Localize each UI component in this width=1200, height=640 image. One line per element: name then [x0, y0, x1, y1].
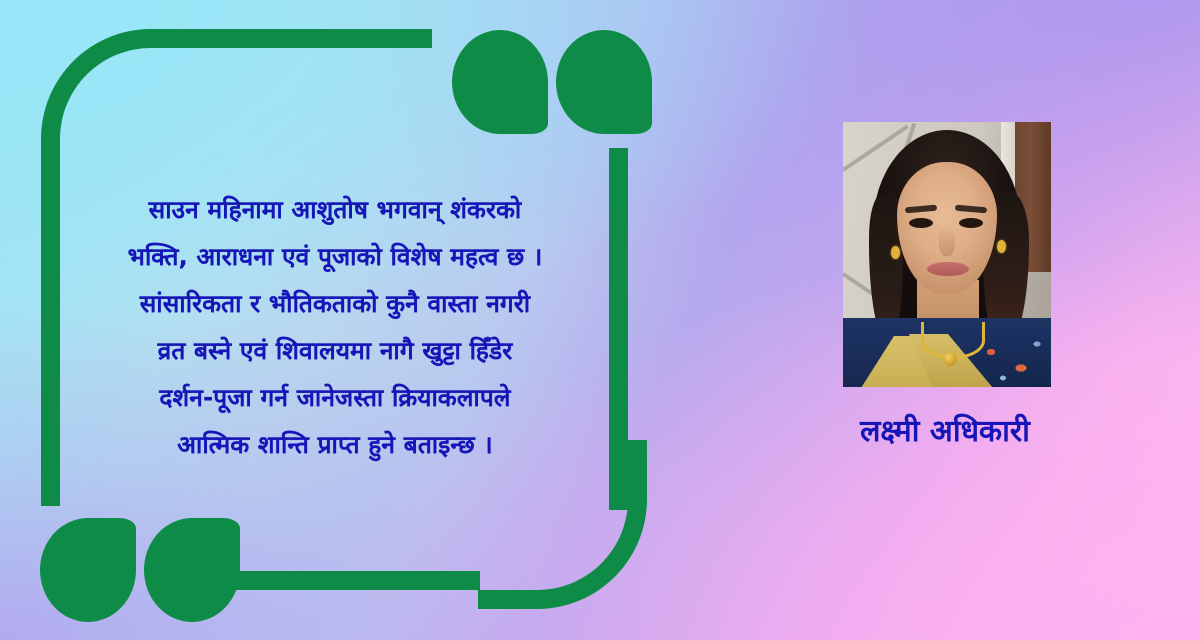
quote-line: भक्ति, आराधना एवं पूजाको विशेष महत्व छ । [62, 233, 608, 280]
quote-text: साउन महिनामा आशुतोष भगवान् शंकरको भक्ति,… [62, 186, 608, 468]
frame-bar-left [41, 176, 60, 506]
earring-right [997, 240, 1006, 253]
necklace-pendant [943, 352, 957, 366]
lips [927, 262, 969, 276]
quote-mark-icon [452, 30, 548, 134]
quote-mark-icon [144, 518, 240, 622]
eye-left [909, 218, 933, 228]
quote-line: आत्मिक शान्ति प्राप्त हुने बताइन्छ । [62, 421, 608, 468]
attribution-name: लक्ष्मी अधिकारी [795, 414, 1095, 450]
frame-bar-top [188, 29, 432, 48]
portrait-photo [843, 122, 1051, 387]
frame-corner-top-left [41, 29, 210, 198]
quote-card: साउन महिनामा आशुतोष भगवान् शंकरको भक्ति,… [0, 0, 1200, 640]
quote-line: सांसारिकता र भौतिकताको कुनै वास्ता नगरी [62, 280, 608, 327]
quote-mark-icon [556, 30, 652, 134]
nose [939, 226, 955, 256]
quote-line: साउन महिनामा आशुतोष भगवान् शंकरको [62, 186, 608, 233]
quote-line: व्रत बस्ने एवं शिवालयमा नागै खुट्टा हिँड… [62, 327, 608, 374]
quote-mark-icon [40, 518, 136, 622]
eye-right [959, 218, 983, 228]
quote-line: दर्शन-पूजा गर्न जानेजस्ता क्रियाकलापले [62, 374, 608, 421]
frame-bar-bottom [218, 571, 480, 590]
earring-left [891, 246, 900, 259]
